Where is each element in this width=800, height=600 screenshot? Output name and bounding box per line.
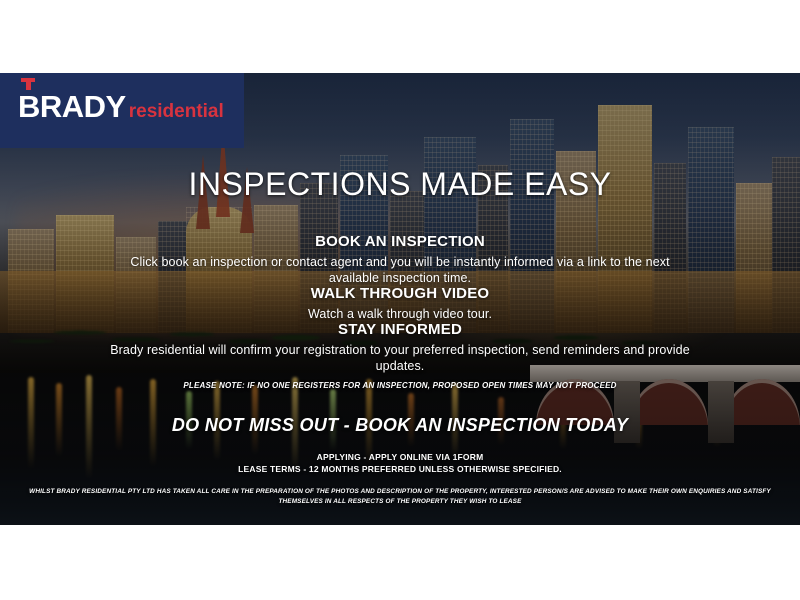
applying-info: APPLYING - APPLY ONLINE VIA 1FORM LEASE … [0, 451, 800, 475]
page-title: INSPECTIONS MADE EASY [0, 166, 800, 203]
lease-terms-line: LEASE TERMS - 12 MONTHS PREFERRED UNLESS… [0, 463, 800, 475]
section-walk-through-video: WALK THROUGH VIDEO Watch a walk through … [120, 285, 680, 322]
call-to-action-text: DO NOT MISS OUT - BOOK AN INSPECTION TOD… [0, 415, 800, 436]
section-body: Click book an inspection or contact agen… [120, 254, 680, 286]
section-heading: STAY INFORMED [100, 321, 700, 338]
legal-disclaimer: WHILST BRADY RESIDENTIAL PTY LTD HAS TAK… [20, 487, 780, 507]
section-body: Brady residential will confirm your regi… [100, 342, 700, 374]
section-stay-informed: STAY INFORMED Brady residential will con… [100, 321, 700, 374]
section-heading: WALK THROUGH VIDEO [120, 285, 680, 302]
section-book-an-inspection: BOOK AN INSPECTION Click book an inspect… [120, 233, 680, 286]
hero-copy: INSPECTIONS MADE EASY BOOK AN INSPECTION… [0, 73, 800, 525]
page-canvas: BRADY residential INSPECTIONS MADE EASY … [0, 0, 800, 600]
section-body: Watch a walk through video tour. [120, 306, 680, 322]
applying-line: APPLYING - APPLY ONLINE VIA 1FORM [0, 451, 800, 463]
please-note-text: PLEASE NOTE: IF NO ONE REGISTERS FOR AN … [0, 381, 800, 390]
section-heading: BOOK AN INSPECTION [120, 233, 680, 250]
